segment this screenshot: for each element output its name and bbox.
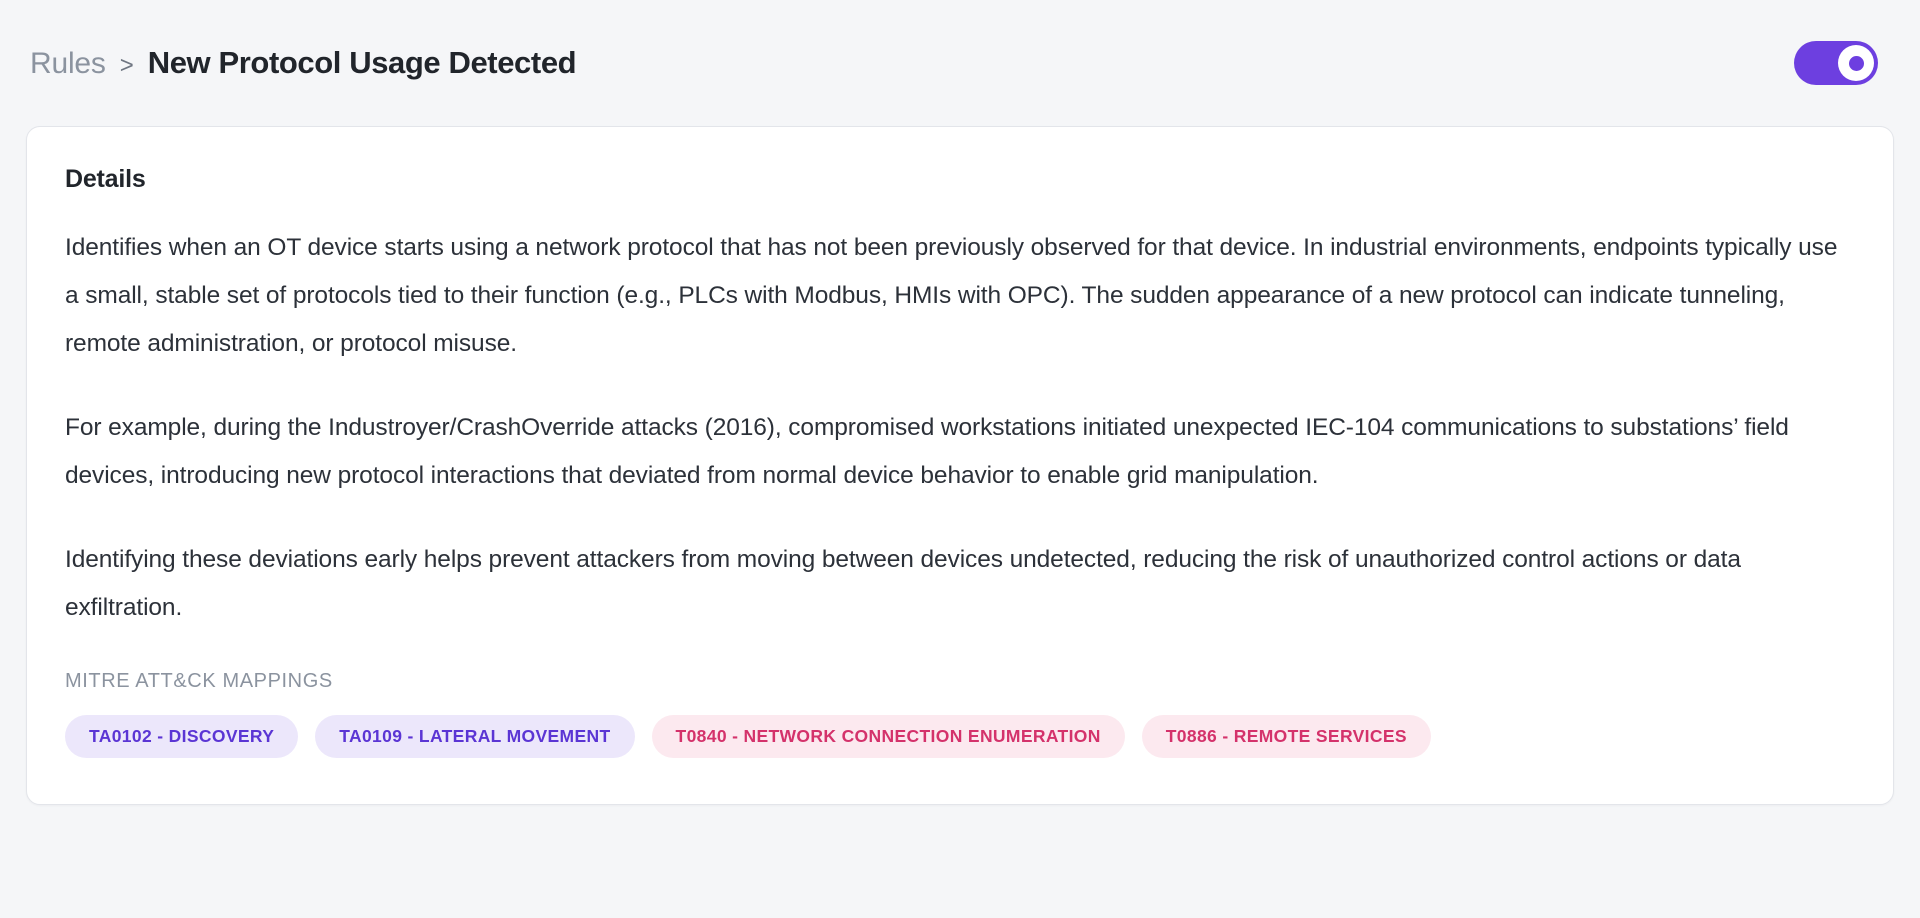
mitre-mapping-tag[interactable]: T0886 - REMOTE SERVICES — [1142, 715, 1431, 758]
mitre-mapping-tag[interactable]: T0840 - NETWORK CONNECTION ENUMERATION — [652, 715, 1125, 758]
breadcrumb-link-rules[interactable]: Rules — [30, 47, 106, 81]
details-paragraph: For example, during the Industroyer/Cras… — [65, 404, 1855, 500]
details-heading: Details — [65, 165, 1855, 194]
mitre-mapping-tag[interactable]: TA0102 - DISCOVERY — [65, 715, 298, 758]
breadcrumb: Rules > New Protocol Usage Detected — [30, 45, 576, 81]
mitre-mappings-label: MITRE ATT&CK MAPPINGS — [65, 670, 1855, 693]
breadcrumb-separator-icon: > — [120, 52, 134, 80]
mitre-mapping-tag[interactable]: TA0109 - LATERAL MOVEMENT — [315, 715, 634, 758]
mitre-mappings-list: TA0102 - DISCOVERY TA0109 - LATERAL MOVE… — [65, 715, 1855, 758]
rule-detail-page: Rules > New Protocol Usage Detected Deta… — [0, 0, 1920, 918]
details-card: Details Identifies when an OT device sta… — [26, 126, 1894, 805]
details-paragraph: Identifying these deviations early helps… — [65, 536, 1855, 632]
page-title: New Protocol Usage Detected — [148, 45, 576, 81]
details-paragraph: Identifies when an OT device starts usin… — [65, 224, 1855, 368]
toggle-knob-icon — [1838, 45, 1874, 81]
rule-enabled-toggle[interactable] — [1794, 41, 1878, 85]
page-header: Rules > New Protocol Usage Detected — [26, 0, 1894, 126]
